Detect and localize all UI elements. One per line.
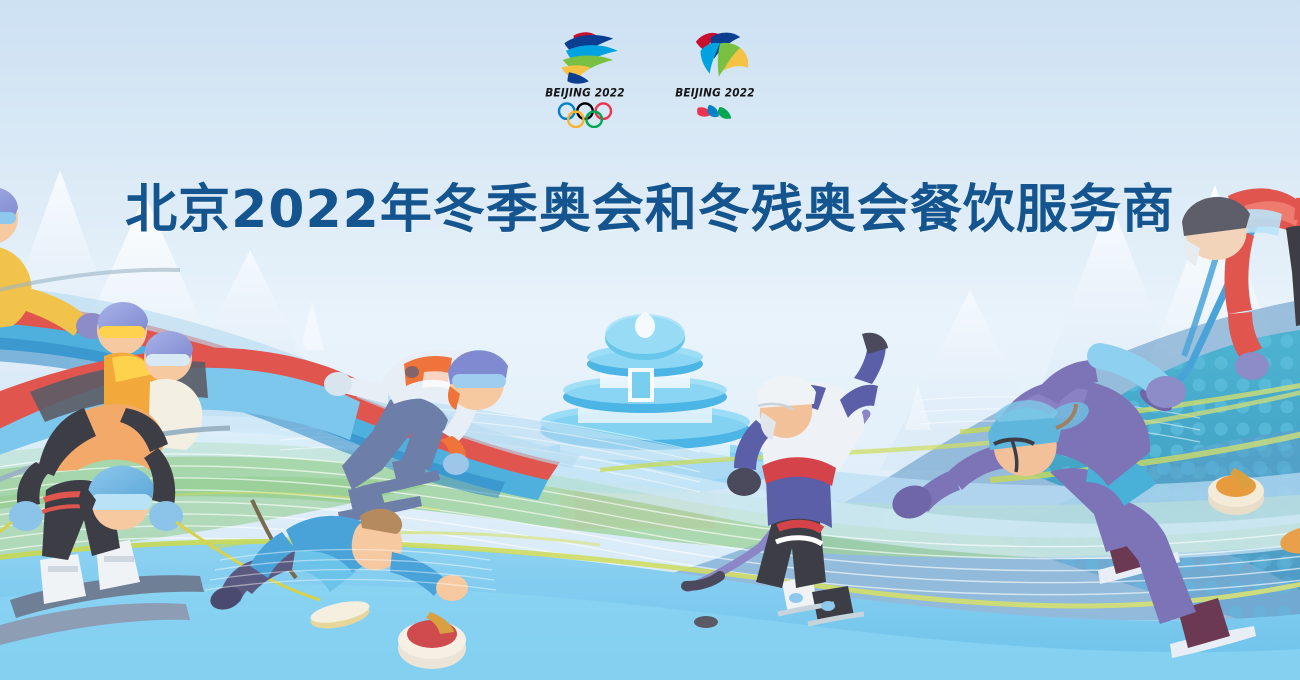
athlete-alpine-skier [0,404,320,646]
olympic-emblem: BEIJING 2022 [542,28,628,128]
emblem-group: BEIJING 2022 BEIJING 2022 [0,28,1300,128]
curling-stone-red [398,612,466,669]
paralympic-winter-mark [673,28,757,86]
paralympic-wordmark: BEIJING 2022 [675,86,755,99]
athlete-ice-hockey-player [686,333,888,628]
agitos-icon [693,103,737,125]
beijing-2022-banner: BEIJING 2022 BEIJING 2022 [0,0,1300,680]
athlete-speed-skater-white [324,349,508,524]
olympic-rings-icon [556,102,614,128]
curling-stone-orange [1208,468,1264,515]
olympic-winter-mark [543,28,627,86]
athlete-curler-sweeping [1100,188,1300,557]
athlete-speed-skater-purple [888,360,1256,658]
page-title: 北京2022年冬季奥会和冬残奥会餐饮服务商 [0,181,1300,239]
olympic-wordmark: BEIJING 2022 [545,86,625,99]
paralympic-emblem: BEIJING 2022 [672,28,758,125]
